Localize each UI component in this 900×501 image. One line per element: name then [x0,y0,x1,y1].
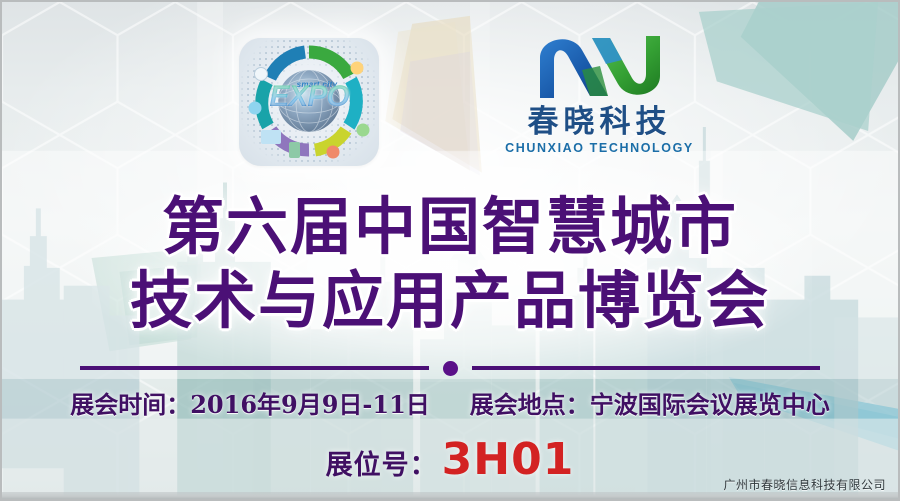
chunxiao-logo-mark [482,28,717,104]
bottom-edge-strip [2,492,898,499]
footer-company-name: 广州市春晓信息科技有限公司 [723,476,886,493]
title-line-1: 第六届中国智慧城市 [2,190,898,264]
divider-line-right [472,366,821,370]
decorative-divider [80,360,820,376]
chunxiao-english-name: CHUNXIAO TECHNOLOGY [482,141,717,155]
event-date: 展会时间：2016年9月9日-11日 [70,385,430,420]
expo-ring [239,38,379,166]
chunxiao-technology-logo: 春晓科技 CHUNXIAO TECHNOLOGY [482,28,717,168]
event-venue: 展会地点：宁波国际会议展览中心 [470,385,830,420]
exhibition-poster: smart city EXPO [0,0,900,501]
booth-label: 展位号： [326,450,438,481]
divider-line-left [80,366,429,370]
poster-title: 第六届中国智慧城市 技术与应用产品博览会 [2,190,898,338]
booth-number: 3H01 [442,434,575,485]
divider-dot-icon [443,361,458,376]
title-line-2: 技术与应用产品博览会 [2,264,898,338]
smart-city-expo-logo: smart city EXPO [239,38,379,166]
event-info-row: 展会时间：2016年9月9日-11日 展会地点：宁波国际会议展览中心 [2,385,898,420]
chunxiao-chinese-name: 春晓科技 [482,106,717,139]
